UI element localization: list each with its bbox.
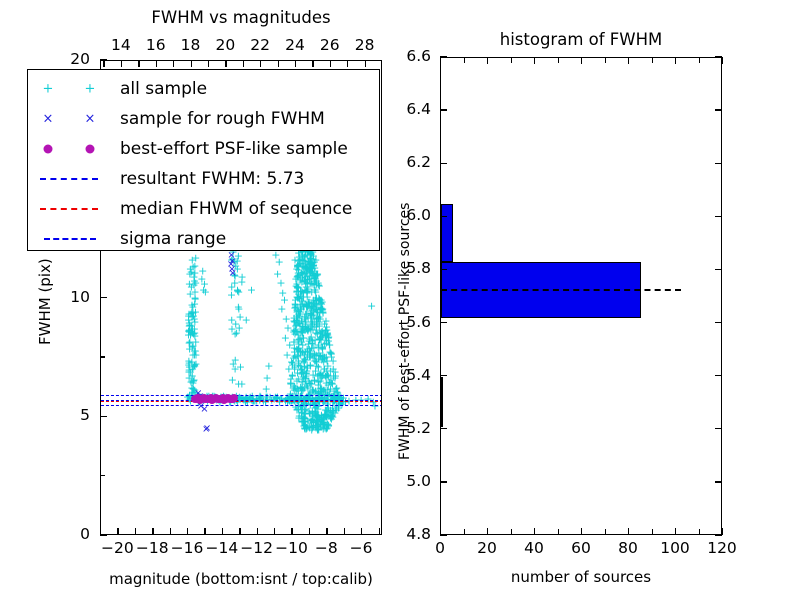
right-y-tick-label: 4.8 [406,525,431,543]
scatter-point-all-sample: + [229,358,238,369]
axis-tick [347,60,348,67]
legend-dot-icon [44,145,53,154]
axis-tick [652,57,653,63]
axis-tick [440,163,447,164]
scatter-point-all-sample: + [294,292,303,303]
axis-tick [715,216,722,217]
axis-tick [440,322,447,323]
scatter-point-all-sample: + [313,370,322,381]
legend-entry-label: sample for rough FWHM [120,109,325,129]
axis-tick [715,269,722,270]
scatter-point-all-sample: + [191,350,200,361]
legend-box: ++all sample××sample for rough FWHMbest-… [27,69,380,251]
legend-entry-label: median FHWM of sequence [120,199,352,219]
scatter-point-rough-sample: × [228,269,236,279]
left-bottom-tick-label: −18 [136,539,169,557]
left-bottom-tick-label: −12 [240,539,273,557]
axis-tick [103,60,104,67]
scatter-point-all-sample: + [190,316,199,327]
right-y-tick-label: 6.4 [406,100,431,118]
left-y-tick-label: 5 [80,406,90,424]
right-x-tick-label: 60 [571,539,591,557]
legend-entry[interactable]: median FHWM of sequence [28,194,379,224]
legend-plus-icon: + [43,83,54,96]
scatter-point-all-sample: + [316,419,325,430]
axis-tick [581,528,582,535]
left-annotation-line-3 [101,405,381,406]
left-bottom-tick-label: −6 [350,539,373,557]
axis-tick [295,60,296,67]
right-x-tick-label: 80 [618,539,638,557]
histogram-resultant-fwhm-line [441,289,681,291]
right-y-tick-label: 6.6 [406,47,431,65]
legend-entry[interactable]: ++all sample [28,74,379,104]
right-panel-xlabel: number of sources [511,568,651,586]
legend-plus-icon: + [85,83,96,96]
axis-tick [225,60,226,67]
scatter-point-all-sample: + [323,329,332,340]
axis-tick [440,534,447,535]
left-bottom-tick-label: −8 [315,539,338,557]
right-y-tick-label: 5.0 [406,472,431,490]
legend-entry-label: best-effort PSF-like sample [120,139,348,159]
axis-tick [440,56,447,57]
axis-tick [208,60,209,67]
axis-tick [274,528,275,535]
scatter-point-all-sample: + [189,280,198,291]
left-panel-title: FWHM vs magnitudes [151,8,330,27]
axis-tick [440,216,447,217]
axis-tick [117,528,118,535]
axis-tick [309,528,310,535]
axis-tick [511,57,512,63]
legend-entry[interactable]: resultant FWHM: 5.73 [28,164,379,194]
legend-dot-icon [86,145,95,154]
axis-tick [699,529,700,535]
left-top-tick-label: 24 [285,36,305,54]
axis-tick [170,528,171,535]
legend-entry-label: resultant FWHM: 5.73 [120,169,304,189]
axis-tick [487,528,488,535]
right-panel-ylabel: FWHM of best-effort PSF-like sources [397,203,413,460]
axis-tick [487,57,488,64]
axis-tick [173,60,174,67]
axis-tick [675,528,676,535]
scatter-point-all-sample: + [301,414,310,425]
left-y-tick-label: 10 [70,288,90,306]
scatter-point-all-sample: + [247,285,256,296]
scatter-point-all-sample: + [242,315,251,326]
axis-tick [243,60,244,67]
axis-tick [260,60,261,67]
legend-entry-label: sigma range [120,229,226,249]
axis-tick [365,60,366,67]
axis-tick [187,528,188,535]
axis-tick [204,528,205,535]
axis-tick [138,60,139,67]
axis-tick [257,528,258,535]
axis-tick [534,528,535,535]
axis-tick [344,528,345,535]
axis-tick [715,322,722,323]
axis-tick [291,528,292,535]
scatter-point-all-sample: + [201,286,210,297]
axis-tick [440,428,447,429]
axis-tick [722,528,723,535]
scatter-point-all-sample: + [186,377,195,388]
left-top-tick-label: 18 [181,36,201,54]
right-x-tick-label: 100 [660,539,690,557]
axis-tick [135,528,136,535]
left-top-tick-label: 16 [146,36,166,54]
axis-tick [605,57,606,63]
left-bottom-tick-label: −14 [205,539,238,557]
scatter-point-all-sample: + [234,378,243,389]
axis-tick [715,56,722,57]
right-x-tick-label: 40 [524,539,544,557]
scatter-point-all-sample: + [298,347,307,358]
axis-tick [558,529,559,535]
axis-tick [152,528,153,535]
scatter-point-all-sample: + [292,280,301,291]
scatter-point-rough-sample: × [200,405,208,415]
axis-tick [715,375,722,376]
left-top-tick-label: 26 [320,36,340,54]
axis-tick [715,109,722,110]
axis-tick [715,428,722,429]
axis-tick [278,60,279,67]
right-x-tick-label: 0 [435,539,445,557]
scatter-point-all-sample: + [306,261,315,272]
axis-tick [605,529,606,535]
axis-tick [440,109,447,110]
legend-entry[interactable]: sigma range [28,224,379,254]
axis-tick [699,57,700,63]
axis-tick [652,529,653,535]
scatter-point-all-sample: + [367,300,376,311]
left-top-tick-label: 14 [111,36,131,54]
axis-tick [100,59,107,60]
axis-tick [628,57,629,64]
legend-dashed-icon [40,208,98,210]
scatter-point-all-sample: + [227,324,236,335]
scatter-point-all-sample: + [297,367,306,378]
axis-tick [156,60,157,67]
left-top-tick-label: 28 [355,36,375,54]
left-y-tick-label: 20 [70,50,90,68]
scatter-point-all-sample: + [326,348,335,359]
scatter-point-all-sample: + [310,273,319,284]
axis-tick [121,60,122,67]
histogram-bar [441,204,453,262]
axis-tick [464,57,465,63]
left-bottom-tick-label: −20 [101,539,134,557]
scatter-point-all-sample: + [275,256,284,267]
scatter-point-all-sample: + [306,321,315,332]
right-panel-plot-area [441,58,721,534]
right-panel-title: histogram of FWHM [500,30,663,49]
left-panel-ylabel: FWHM (pix) [36,258,54,345]
axis-tick [191,60,192,67]
axis-tick [361,528,362,535]
scatter-point-all-sample: + [264,361,273,372]
legend-dashdot-icon [44,238,96,240]
axis-tick [100,475,105,476]
legend-dashed-icon [40,178,98,180]
legend-entry[interactable]: ××sample for rough FWHM [28,104,379,134]
axis-tick [558,57,559,63]
scatter-point-all-sample: + [227,282,236,293]
left-bottom-tick-label: −10 [275,539,308,557]
axis-tick [715,534,722,535]
axis-tick [675,57,676,64]
axis-tick [440,481,447,482]
axis-tick [715,163,722,164]
axis-tick [100,297,107,298]
axis-tick [222,528,223,535]
scatter-point-rough-sample: × [202,425,210,435]
scatter-point-all-sample: + [316,314,325,325]
axis-tick [100,534,107,535]
scatter-point-all-sample: + [286,373,295,384]
axis-tick [511,529,512,535]
axis-tick [326,528,327,535]
scatter-point-all-sample: + [328,379,337,390]
left-panel-xlabel: magnitude (bottom:isnt / top:calib) [109,570,373,588]
axis-tick [379,528,380,535]
scatter-point-all-sample: + [293,260,302,271]
right-x-tick-label: 120 [707,539,737,557]
axis-tick [715,481,722,482]
legend-entry-label: all sample [120,79,207,99]
scatter-point-all-sample: + [305,301,314,312]
axis-tick [330,60,331,67]
axis-tick [440,57,441,64]
left-y-tick-label: 0 [80,525,90,543]
axis-tick [100,356,105,357]
axis-tick [239,528,240,535]
scatter-point-all-sample: + [326,365,335,376]
axis-tick [722,57,723,64]
scatter-point-all-sample: + [186,264,195,275]
right-y-tick-label: 6.2 [406,153,431,171]
scatter-point-psf-sample [230,394,238,402]
histogram-bar [441,377,443,427]
axis-tick [581,57,582,64]
right-x-tick-label: 20 [477,539,497,557]
legend-entry[interactable]: best-effort PSF-like sample [28,134,379,164]
axis-tick [628,528,629,535]
left-annotation-line-2 [101,395,381,396]
axis-tick [100,416,107,417]
axis-tick [312,60,313,67]
figure-root: FWHM vs magnitudes +++++++++++++++++++++… [0,0,800,600]
axis-tick [464,529,465,535]
legend-cross-icon: × [85,113,96,126]
axis-tick [534,57,535,64]
scatter-point-all-sample: + [295,318,304,329]
left-top-tick-label: 22 [250,36,270,54]
scatter-point-all-sample: + [187,300,196,311]
axis-tick [440,269,447,270]
axis-tick [440,375,447,376]
left-top-tick-label: 20 [215,36,235,54]
left-bottom-tick-label: −16 [171,539,204,557]
left-annotation-line-1 [101,401,381,402]
legend-cross-icon: × [43,113,54,126]
